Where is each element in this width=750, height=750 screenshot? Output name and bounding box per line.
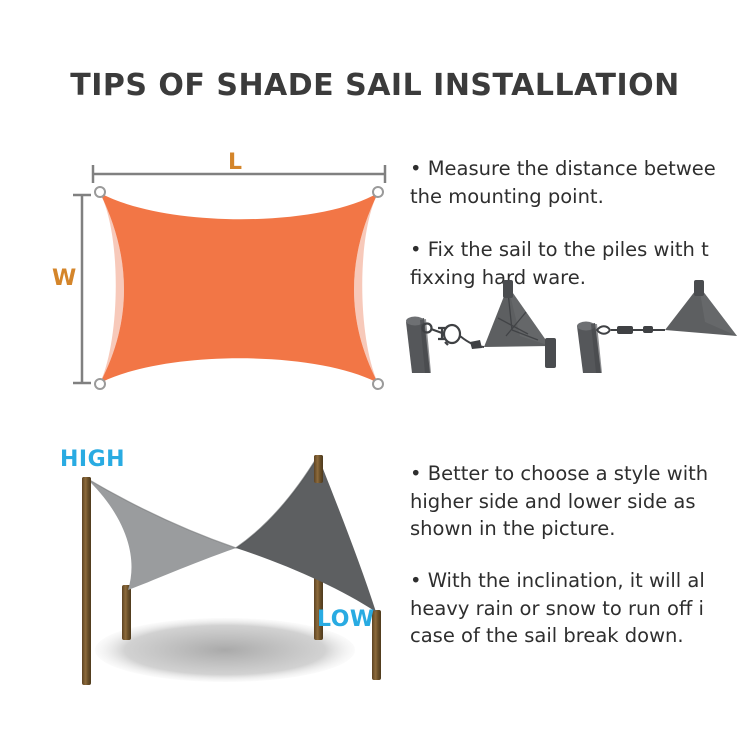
tip-line: case of the sail break down. (410, 622, 750, 650)
tip-line: • Measure the distance betwee (410, 155, 750, 183)
sail-corner-triangle (484, 286, 550, 347)
tip-paragraph-style: • Better to choose a style with higher s… (410, 460, 750, 543)
mounting-post-icon (406, 317, 431, 374)
hardware-illustration-post-turnbuckle (565, 278, 750, 373)
grommet-top-left (95, 187, 105, 197)
grommet-bottom-left (95, 379, 105, 389)
tip-line: higher side and lower side as (410, 488, 750, 516)
post-front-left (82, 477, 91, 685)
turnbuckle-chain-icon (597, 326, 617, 334)
low-side-label: LOW (317, 609, 375, 631)
carabiner-icon (423, 324, 461, 346)
post-front-left-top (82, 477, 91, 507)
orange-shade-sail (100, 193, 378, 383)
tip-line: heavy rain or snow to run off i (410, 595, 750, 623)
width-label: W (52, 268, 76, 290)
shade-sail-dark (236, 456, 376, 612)
infographic-page: TIPS OF SHADE SAIL INSTALLATION L W (0, 0, 750, 750)
tip-line: shown in the picture. (410, 515, 750, 543)
turnbuckle-body (617, 326, 633, 334)
support-right (545, 338, 556, 368)
chain-block (643, 326, 653, 333)
overlapping-sails-canopy-diagram (40, 440, 405, 695)
high-side-label: HIGH (60, 449, 125, 471)
grommet-top-right (373, 187, 383, 197)
length-label: L (228, 152, 242, 174)
post-back-right-top (314, 455, 323, 483)
hardware-illustration-post-carabiner (400, 278, 585, 373)
tip-paragraph-inclination: • With the inclination, it will al heavy… (410, 567, 750, 650)
page-title: TIPS OF SHADE SAIL INSTALLATION (0, 68, 750, 103)
rectangular-sail-diagram (60, 140, 405, 405)
top-tips-text-block: • Measure the distance betwee the mounti… (410, 155, 750, 292)
support-top (694, 280, 704, 296)
support-left (503, 280, 513, 298)
shade-sail-light (86, 478, 236, 590)
fixing-plate-icon (470, 340, 482, 349)
post-short-mid (122, 585, 131, 640)
tip-line: • With the inclination, it will al (410, 567, 750, 595)
tip-paragraph-measure: • Measure the distance betwee the mounti… (410, 155, 750, 210)
tip-line: • Better to choose a style with (410, 460, 750, 488)
tip-line: the mounting point. (410, 183, 750, 211)
bottom-tips-text-block: • Better to choose a style with higher s… (410, 460, 750, 674)
tip-line: • Fix the sail to the piles with t (410, 236, 750, 264)
grommet-bottom-right (373, 379, 383, 389)
